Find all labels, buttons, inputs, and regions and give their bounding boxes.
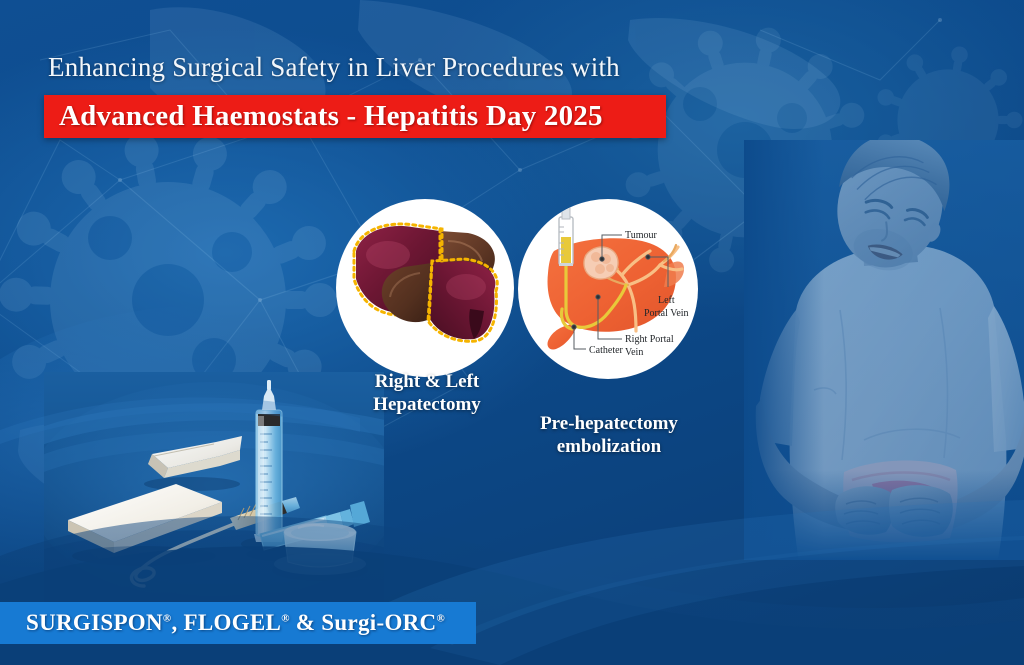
brand-2-trademark: ® xyxy=(281,612,290,624)
label-left-portal-vein-l1: Left xyxy=(658,295,675,306)
label-catheter: Catheter xyxy=(589,345,624,356)
caption-line-2: Hepatectomy xyxy=(352,393,502,416)
figure-caption-hepatectomy: Right & Left Hepatectomy xyxy=(352,370,502,416)
title-banner-text: Advanced Haemostats - Hepatitis Day 2025 xyxy=(44,100,603,133)
brand-2: FLOGEL xyxy=(184,610,282,635)
figure-caption-embolization: Pre-hepatectomy embolization xyxy=(520,412,698,458)
label-right-portal-vein-l1: Right Portal xyxy=(625,334,674,345)
label-tumour: Tumour xyxy=(625,230,658,241)
title-banner: Advanced Haemostats - Hepatitis Day 2025 xyxy=(44,95,666,138)
embolization-diagram: Tumour Left Portal Vein Right Portal Vei… xyxy=(518,199,698,379)
gel-dish xyxy=(272,523,368,581)
figure-right-left-hepatectomy xyxy=(336,199,514,377)
brand-3: Surgi-ORC xyxy=(321,610,436,635)
product-photo xyxy=(44,372,384,602)
brand-1: SURGISPON xyxy=(26,610,163,635)
brand-banner: SURGISPON®, FLOGEL® & Surgi-ORC® xyxy=(0,602,476,644)
caption-line-2: embolization xyxy=(520,435,698,458)
brand-separator-2: & xyxy=(290,610,322,635)
poster-canvas: Enhancing Surgical Safety in Liver Proce… xyxy=(0,0,1024,665)
label-right-portal-vein-l2: Vein xyxy=(625,347,643,358)
brand-banner-text: SURGISPON®, FLOGEL® & Surgi-ORC® xyxy=(0,610,445,636)
figure-pre-hepatectomy-embolization: Tumour Left Portal Vein Right Portal Vei… xyxy=(518,199,698,379)
caption-line-1: Right & Left xyxy=(352,370,502,393)
brand-3-trademark: ® xyxy=(436,612,445,624)
liver-lower xyxy=(382,259,497,341)
page-title: Enhancing Surgical Safety in Liver Proce… xyxy=(48,52,620,83)
label-left-portal-vein-l2: Portal Vein xyxy=(644,308,689,319)
patient-photo xyxy=(744,140,1024,560)
caption-line-1: Pre-hepatectomy xyxy=(520,412,698,435)
brand-separator-1: , xyxy=(171,610,183,635)
hepatectomy-illustration xyxy=(336,199,514,377)
